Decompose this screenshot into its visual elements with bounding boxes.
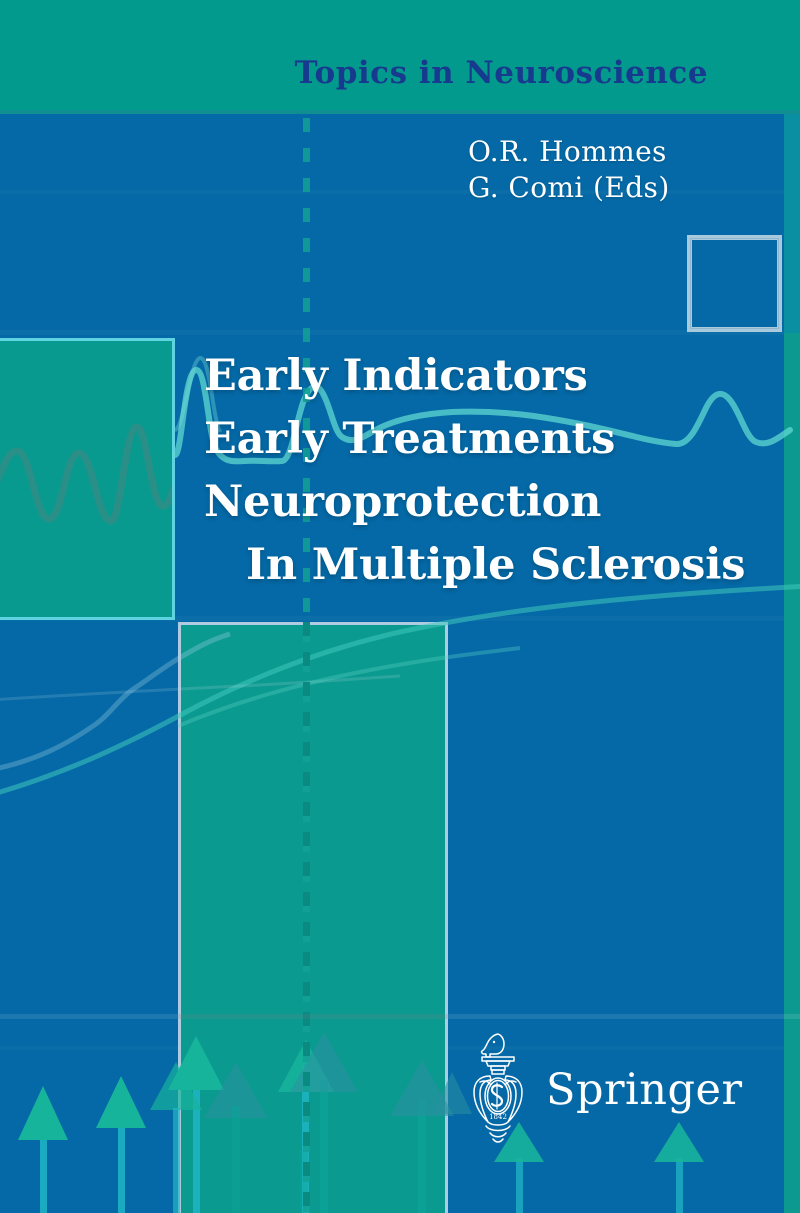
book-cover: Topics in Neuroscience O.R. Hommes G. Co… xyxy=(0,0,800,1213)
title-line-2: Early Treatments xyxy=(204,408,784,471)
editor-name-1: O.R. Hommes xyxy=(468,134,670,170)
title-line-3: Neuroprotection xyxy=(204,471,784,534)
publisher-logo: 1842 Springer xyxy=(466,1030,743,1154)
dashed-guide-line-lower xyxy=(303,622,310,1213)
series-title: Topics in Neuroscience xyxy=(295,55,708,91)
right-edge-strip-upper xyxy=(784,113,800,333)
horizontal-rule-panel xyxy=(178,1014,448,1019)
publisher-year: 1842 xyxy=(489,1113,507,1121)
panel-wave-decoration xyxy=(0,341,172,617)
title-line-4: In Multiple Sclerosis xyxy=(204,534,784,597)
editors-block: O.R. Hommes G. Comi (Eds) xyxy=(468,134,670,206)
left-teal-panel xyxy=(0,338,175,620)
title-line-1: Early Indicators xyxy=(204,345,784,408)
hollow-square-decoration xyxy=(687,235,782,332)
editor-name-2: G. Comi (Eds) xyxy=(468,170,670,206)
publisher-name: Springer xyxy=(546,1069,743,1116)
sine-wave-icon xyxy=(0,341,172,617)
background-band xyxy=(0,190,800,194)
series-band-edge xyxy=(0,110,800,114)
springer-knight-icon: 1842 xyxy=(466,1030,530,1154)
book-title: Early Indicators Early Treatments Neurop… xyxy=(204,345,784,597)
main-teal-panel xyxy=(178,622,448,1213)
background-band xyxy=(0,330,800,335)
